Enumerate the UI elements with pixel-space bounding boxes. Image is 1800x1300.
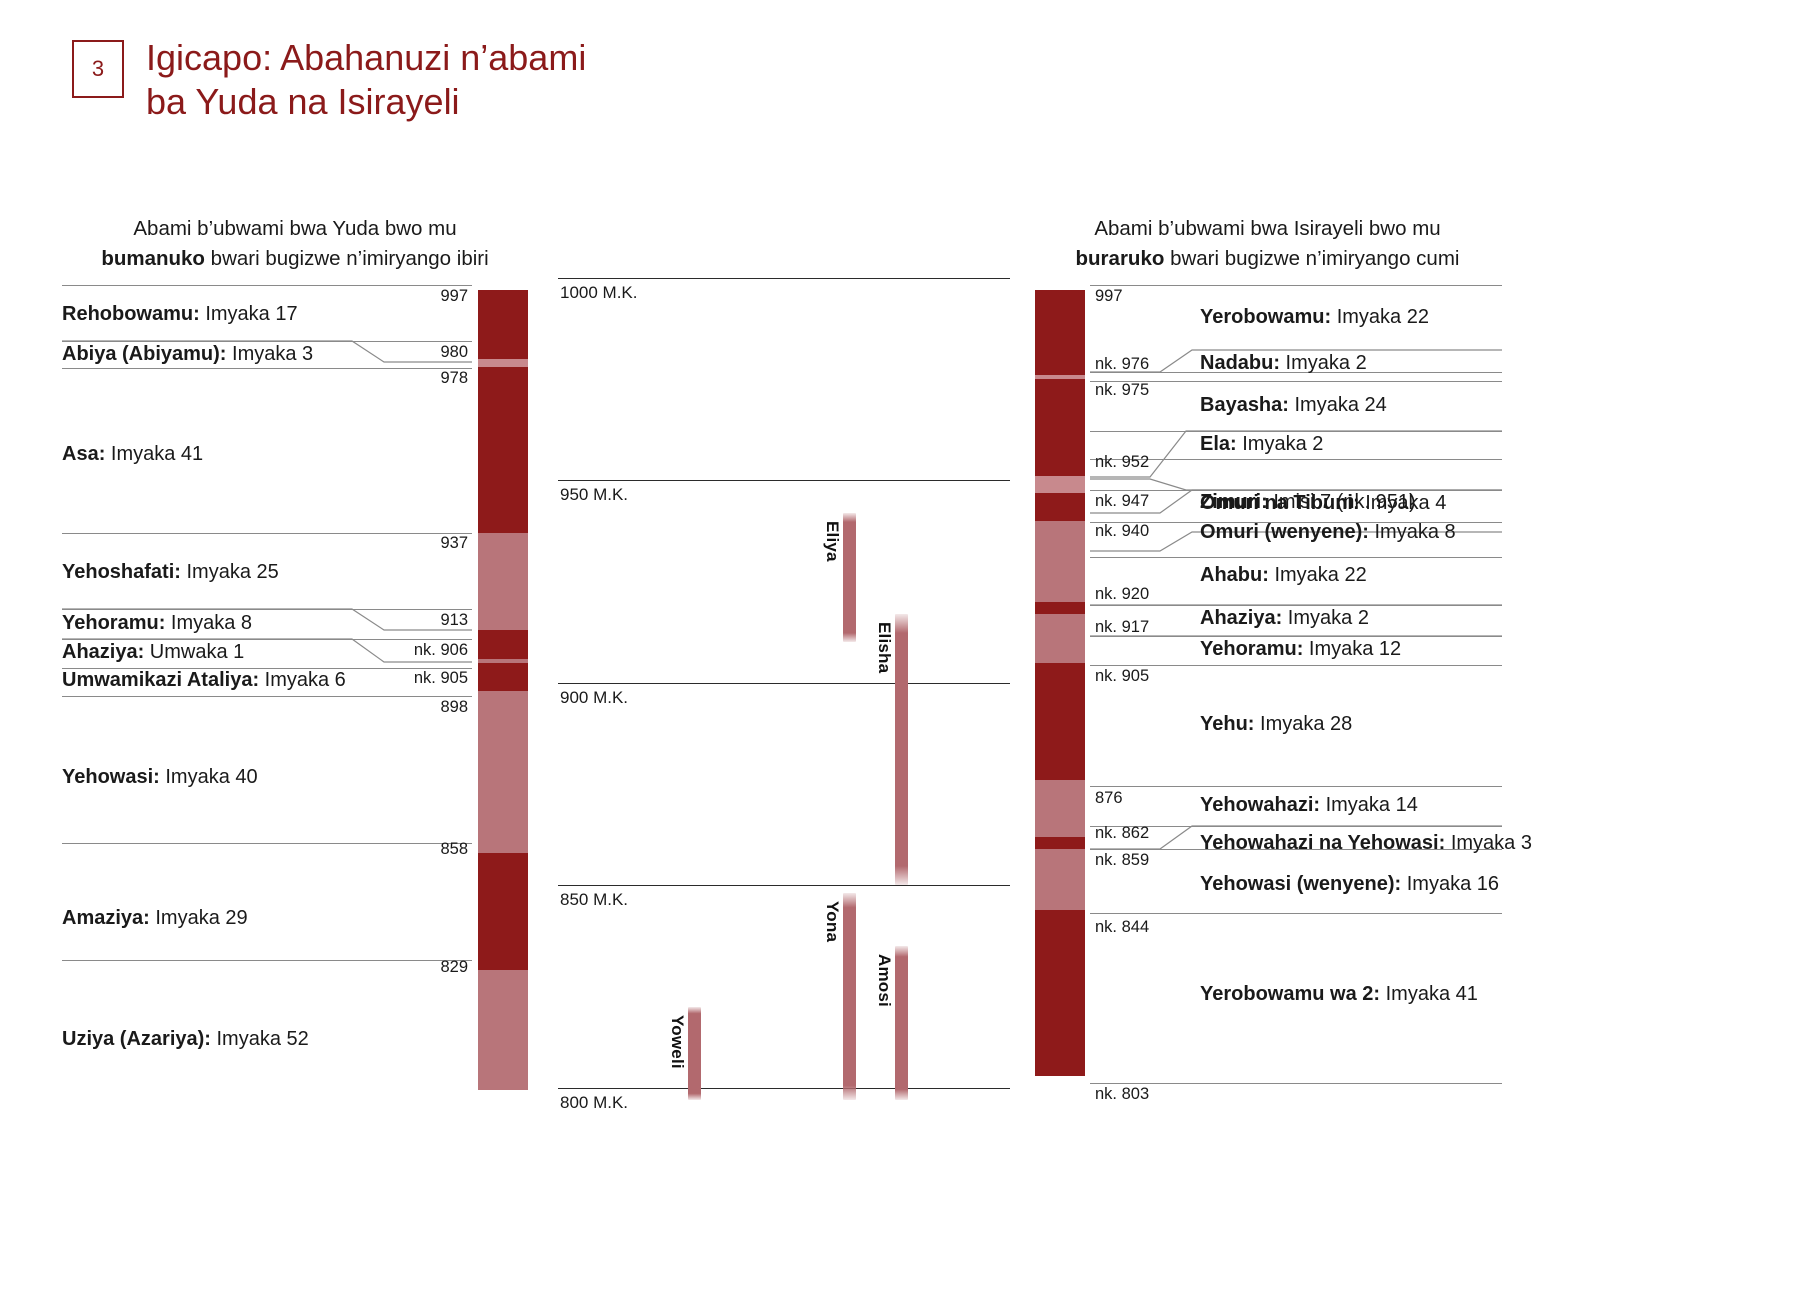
judah-year-label: 978 [292, 369, 468, 388]
scale-label-1000: 1000 M.K. [560, 283, 638, 303]
band-segment-yehowahazi [1035, 780, 1085, 837]
judah-header-bold: bumanuko [101, 247, 205, 270]
judah-rule-ahaziya [62, 639, 472, 640]
israel-header-line2: bwari bugizwe n’imiryango cumi [1164, 247, 1459, 270]
israel-year-label: nk. 905 [1095, 667, 1149, 686]
judah-year-label: 937 [292, 534, 468, 553]
chapter-number: 3 [92, 56, 104, 82]
scale-rule-800 [558, 1088, 1010, 1089]
judah-king-amaziya: Amaziya: Imyaka 29 [62, 907, 248, 930]
band-segment-omuri-wenyene- [1035, 493, 1085, 521]
israel-reign-band [1035, 285, 1085, 1090]
band-segment-amaziya [478, 853, 528, 970]
judah-rule-rehobowamu [62, 285, 472, 286]
israel-column-header: Abami b’ubwami bwa Isirayeli bwo mu bura… [1030, 214, 1505, 273]
band-segment-yehowasi [478, 691, 528, 853]
band-segment-asa [478, 367, 528, 533]
band-segment-yehoshafati [478, 533, 528, 630]
israel-king-ahaziya: Ahaziya: Imyaka 2 [1200, 607, 1369, 630]
judah-rule-yehoramu [62, 609, 472, 610]
band-segment-yerobowamu-wa-2 [1035, 910, 1085, 1076]
israel-rule-yehowahazi-na-yehowasi [1090, 826, 1502, 827]
band-segment-yehoramu [478, 630, 528, 658]
israel-header-line1: Abami b’ubwami bwa Isirayeli bwo mu [1094, 217, 1440, 240]
prophet-label-eliya: Eliya [822, 521, 842, 562]
judah-rule-yehowasi [62, 696, 472, 697]
israel-rule-ahabu [1090, 557, 1502, 558]
judah-column-header: Abami b’ubwami bwa Yuda bwo mu bumanuko … [60, 214, 530, 273]
judah-king-ahaziya: Ahaziya: Umwaka 1 [62, 641, 244, 664]
israel-year-label: nk. 862 [1095, 824, 1149, 843]
israel-rule-bayasha [1090, 381, 1502, 382]
prophet-label-elisha: Elisha [874, 622, 894, 673]
time-scale: 1000 M.K.950 M.K.900 M.K.850 M.K.800 M.K… [558, 270, 1010, 1100]
scale-label-850: 850 M.K. [560, 890, 628, 910]
israel-header-bold: buraruko [1076, 247, 1165, 270]
israel-king-yerobowamu-wa-2: Yerobowamu wa 2: Imyaka 41 [1200, 983, 1478, 1006]
israel-year-label: nk. 920 [1095, 585, 1149, 604]
israel-year-label: 997 [1095, 287, 1123, 306]
band-segment-yehoramu [1035, 614, 1085, 663]
band-segment-yerobowamu [1035, 290, 1085, 375]
judah-king-yehowasi: Yehowasi: Imyaka 40 [62, 766, 258, 789]
israel-year-label: nk. 940 [1095, 522, 1149, 541]
israel-year-label: 876 [1095, 789, 1123, 808]
israel-year-label: nk. 976 [1095, 355, 1149, 374]
scale-label-950: 950 M.K. [560, 485, 628, 505]
scale-rule-850 [558, 885, 1010, 886]
judah-year-label: 980 [292, 343, 468, 362]
prophet-label-yona: Yona [822, 901, 842, 942]
scale-label-900: 900 M.K. [560, 688, 628, 708]
judah-king-abiya-abiyamu-: Abiya (Abiyamu): Imyaka 3 [62, 343, 313, 366]
judah-header-line2: bwari bugizwe n’imiryango ibiri [205, 247, 489, 270]
judah-year-label: 829 [292, 958, 468, 977]
israel-king-yehowasi-wenyene-: Yehowasi (wenyene): Imyaka 16 [1200, 873, 1499, 896]
prophet-bar-yoweli [688, 1007, 701, 1100]
israel-king-yehoramu: Yehoramu: Imyaka 12 [1200, 638, 1401, 661]
israel-rule-yehu [1090, 665, 1502, 666]
band-segment-ahaziya [1035, 602, 1085, 614]
judah-king-rehobowamu: Rehobowamu: Imyaka 17 [62, 303, 298, 326]
israel-king-yerobowamu: Yerobowamu: Imyaka 22 [1200, 306, 1429, 329]
israel-rule-ahaziya [1090, 605, 1502, 606]
israel-rule-yerobowamu [1090, 285, 1502, 286]
israel-year-label: nk. 952 [1095, 453, 1149, 472]
band-segment-ahabu [1035, 521, 1085, 602]
israel-king-ela: Ela: Imyaka 2 [1200, 433, 1323, 456]
israel-king-omuri-na-tibuni: Omuri na Tibuni: Imyaka 4 [1200, 492, 1446, 515]
israel-king-bayasha: Bayasha: Imyaka 24 [1200, 394, 1387, 417]
band-segment-bayasha [1035, 379, 1085, 472]
israel-rule-zimuri [1090, 459, 1502, 460]
israel-year-label: nk. 917 [1095, 618, 1149, 637]
judah-year-label: nk. 906 [292, 641, 468, 660]
band-segment-yehu [1035, 663, 1085, 780]
prophet-bar-elisha [895, 614, 908, 885]
judah-year-label: 997 [292, 287, 468, 306]
judah-king-yehoramu: Yehoramu: Imyaka 8 [62, 612, 252, 635]
band-segment-uziya-azariya- [478, 970, 528, 1090]
prophet-label-amosi: Amosi [874, 954, 894, 1007]
band-segment-rehobowamu [478, 290, 528, 359]
judah-king-uziya-azariya-: Uziya (Azariya): Imyaka 52 [62, 1028, 309, 1051]
israel-king-nadabu: Nadabu: Imyaka 2 [1200, 352, 1367, 375]
prophet-bar-eliya [843, 513, 856, 643]
prophet-bar-yona [843, 893, 856, 1100]
israel-rule-yehoramu [1090, 636, 1502, 637]
israel-rule-end [1090, 1083, 1502, 1084]
israel-king-yehowahazi: Yehowahazi: Imyaka 14 [1200, 794, 1418, 817]
band-segment-omuri-na-tibuni [1035, 476, 1085, 492]
judah-king-yehoshafati: Yehoshafati: Imyaka 25 [62, 561, 279, 584]
judah-reign-band [478, 285, 528, 1090]
israel-king-ahabu: Ahabu: Imyaka 22 [1200, 564, 1367, 587]
israel-year-label: nk. 803 [1095, 1085, 1149, 1104]
judah-king-asa: Asa: Imyaka 41 [62, 443, 203, 466]
judah-year-label: 913 [292, 611, 468, 630]
page-title: Igicapo: Abahanuzi n’abami ba Yuda na Is… [146, 36, 586, 124]
band-segment-umwamikazi-ataliya [478, 663, 528, 691]
scale-rule-950 [558, 480, 1010, 481]
judah-year-label: 898 [292, 698, 468, 717]
scale-rule-1000 [558, 278, 1010, 279]
israel-king-yehu: Yehu: Imyaka 28 [1200, 713, 1352, 736]
israel-year-label: nk. 859 [1095, 851, 1149, 870]
band-segment-yehowahazi-na-yehowasi [1035, 837, 1085, 849]
israel-king-yehowahazi-na-yehowasi: Yehowahazi na Yehowasi: Imyaka 3 [1200, 832, 1532, 855]
scale-rule-900 [558, 683, 1010, 684]
israel-rule-yehowahazi [1090, 786, 1502, 787]
judah-rule-abiya-abiyamu- [62, 341, 472, 342]
israel-year-label: nk. 844 [1095, 918, 1149, 937]
band-segment-yehowasi-wenyene- [1035, 849, 1085, 910]
israel-rule-yerobowamu-wa-2 [1090, 913, 1502, 914]
judah-year-label: 858 [292, 840, 468, 859]
scale-label-800: 800 M.K. [560, 1093, 628, 1113]
chapter-number-badge: 3 [72, 40, 124, 98]
israel-year-label: nk. 947 [1095, 492, 1149, 511]
judah-king-umwamikazi-ataliya: Umwamikazi Ataliya: Imyaka 6 [62, 669, 346, 692]
prophet-bar-amosi [895, 946, 908, 1100]
israel-king-omuri-wenyene-: Omuri (wenyene): Imyaka 8 [1200, 521, 1456, 544]
chapter-header: 3 Igicapo: Abahanuzi n’abami ba Yuda na … [72, 40, 586, 124]
israel-year-label: nk. 975 [1095, 381, 1149, 400]
judah-header-line1: Abami b’ubwami bwa Yuda bwo mu [133, 217, 456, 240]
prophet-label-yoweli: Yoweli [667, 1015, 687, 1069]
israel-rule-ela [1090, 431, 1502, 432]
band-segment-abiya-abiyamu- [478, 359, 528, 367]
